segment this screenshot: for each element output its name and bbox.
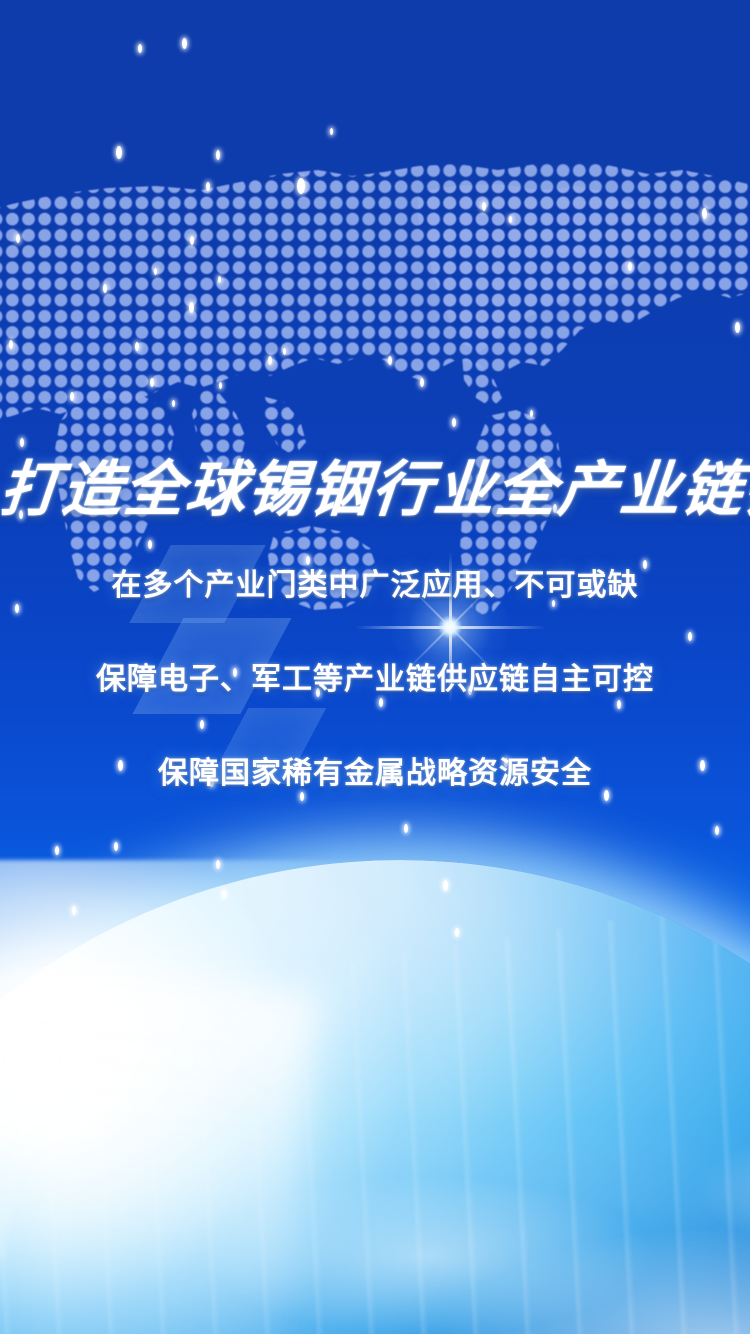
subtitle-list: 在多个产业门类中广泛应用、不可或缺 保障电子、军工等产业链供应链自主可控 保障国… [0,556,750,792]
poster-root: 打造全球锡铟行业全产业链链主 在多个产业门类中广泛应用、不可或缺 保障电子、军工… [0,0,750,1334]
page-title: 打造全球锡铟行业全产业链链主 [0,458,750,523]
subtitle-line-1: 在多个产业门类中广泛应用、不可或缺 [0,560,750,604]
subtitle-line-3: 保障国家稀有金属战略资源安全 [0,748,750,792]
subtitle-line-2: 保障电子、军工等产业链供应链自主可控 [0,654,750,698]
light-shaft [17,966,319,1334]
